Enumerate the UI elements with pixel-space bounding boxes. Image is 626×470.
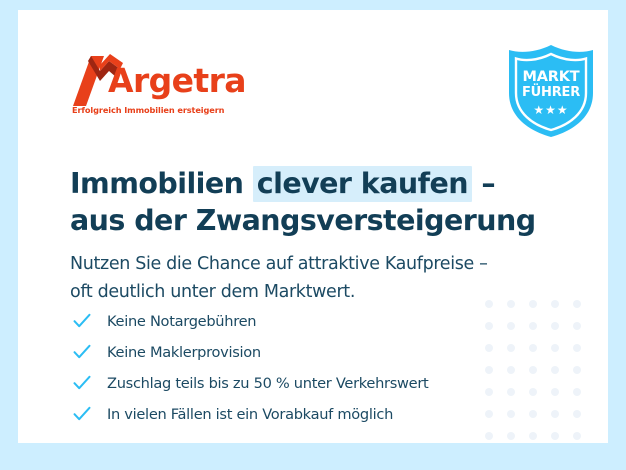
headline-suffix: – [472, 167, 495, 200]
dot [507, 432, 515, 440]
subheadline-line-2: oft deutlich unter dem Marktwert. [70, 278, 550, 306]
promo-banner: Argetra Erfolgreich Immobilien ersteiger… [0, 0, 626, 470]
list-item: Zuschlag teils bis zu 50 % unter Verkehr… [73, 368, 543, 399]
banner-card: Argetra Erfolgreich Immobilien ersteiger… [18, 10, 608, 443]
dot [551, 300, 559, 308]
dot [551, 410, 559, 418]
check-icon [73, 344, 91, 360]
list-item-label: In vielen Fällen ist ein Vorabkauf mögli… [107, 406, 393, 423]
list-item-label: Keine Maklerprovision [107, 344, 261, 361]
dot [529, 432, 537, 440]
dot [573, 410, 581, 418]
dot [551, 366, 559, 374]
dot [551, 388, 559, 396]
badge-stars: ★★★ [505, 104, 597, 116]
badge-line-fuehrer: FÜHRER [505, 86, 597, 99]
list-item-label: Zuschlag teils bis zu 50 % unter Verkehr… [107, 375, 428, 392]
argetra-logo[interactable]: Argetra Erfolgreich Immobilien ersteiger… [70, 48, 270, 124]
list-item: In vielen Fällen ist ein Vorabkauf mögli… [73, 399, 543, 430]
feature-list: Keine Notargebühren Keine Maklerprovisio… [73, 306, 543, 430]
list-item: Keine Notargebühren [73, 306, 543, 337]
headline-line-2: aus der Zwangsversteigerung [70, 202, 540, 239]
dot [573, 300, 581, 308]
market-leader-badge: MARKT FÜHRER ★★★ [505, 43, 597, 139]
dot [573, 322, 581, 330]
dot [551, 322, 559, 330]
badge-line-markt: MARKT [505, 70, 597, 85]
dot [551, 344, 559, 352]
logo-wordmark: Argetra [108, 64, 246, 97]
check-icon [73, 313, 91, 329]
subheadline-line-1: Nutzen Sie die Chance auf attraktive Kau… [70, 250, 550, 278]
headline-line-1: Immobilien clever kaufen – [70, 165, 540, 202]
dot [551, 432, 559, 440]
dot [573, 388, 581, 396]
check-icon [73, 406, 91, 422]
headline-highlight: clever kaufen [253, 166, 472, 202]
check-icon [73, 375, 91, 391]
headline-prefix: Immobilien [70, 167, 253, 200]
headline: Immobilien clever kaufen – aus der Zwang… [70, 165, 540, 239]
list-item: Keine Maklerprovision [73, 337, 543, 368]
dot [573, 432, 581, 440]
subheadline: Nutzen Sie die Chance auf attraktive Kau… [70, 250, 550, 306]
dot [573, 366, 581, 374]
dot [573, 344, 581, 352]
dot [485, 432, 493, 440]
list-item-label: Keine Notargebühren [107, 313, 256, 330]
logo-tagline: Erfolgreich Immobilien ersteigern [72, 105, 224, 115]
